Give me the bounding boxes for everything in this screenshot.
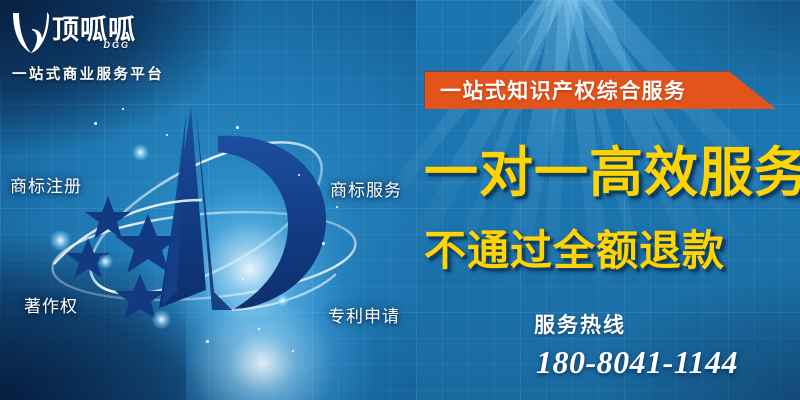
hotline-label: 服务热线	[534, 309, 626, 339]
sparkle-dot	[242, 278, 244, 280]
sparkle-dot	[122, 108, 124, 110]
promotional-banner: 商标注册 商标服务 著作权 专利申请 顶呱呱 DGG 一站式商业服务平台 一站式…	[0, 0, 800, 400]
brand-logo[interactable]: 顶呱呱 DGG 一站式商业服务平台	[8, 8, 188, 90]
headline-primary: 一对一高效服务	[424, 146, 800, 200]
bokeh-dot	[152, 310, 171, 329]
ip-monogram-emblem	[36, 78, 386, 388]
service-label-trademark-registration: 商标注册	[10, 172, 82, 197]
leaf-v-mark-icon	[8, 9, 52, 57]
sparkle-dot	[292, 350, 294, 352]
service-label-copyright: 著作权	[24, 292, 78, 317]
bokeh-dot	[132, 144, 149, 161]
logo-row: 顶呱呱 DGG	[8, 8, 188, 58]
logo-tagline: 一站式商业服务平台	[8, 63, 188, 84]
sparkle-dot	[236, 126, 239, 129]
emblem-artwork	[36, 78, 386, 388]
ribbon-text: 一站式知识产权综合服务	[440, 72, 760, 108]
headline-secondary: 不通过全额退款	[424, 230, 725, 272]
sparkle-dot	[94, 122, 97, 125]
service-label-patent-application: 专利申请	[328, 302, 400, 327]
service-label-trademark-service: 商标服务	[330, 176, 402, 201]
sparkle-dot	[298, 174, 300, 176]
bokeh-dot	[98, 254, 113, 269]
sparkle-dot	[166, 134, 168, 136]
sparkle-dot	[336, 206, 338, 208]
hotline-number[interactable]: 180-8041-1144	[536, 344, 738, 381]
sparkle-dot	[206, 340, 209, 343]
bokeh-dot	[276, 294, 289, 307]
sparkle-dot	[258, 328, 260, 330]
sparkle-dot	[322, 242, 325, 245]
bokeh-dot	[50, 230, 71, 251]
